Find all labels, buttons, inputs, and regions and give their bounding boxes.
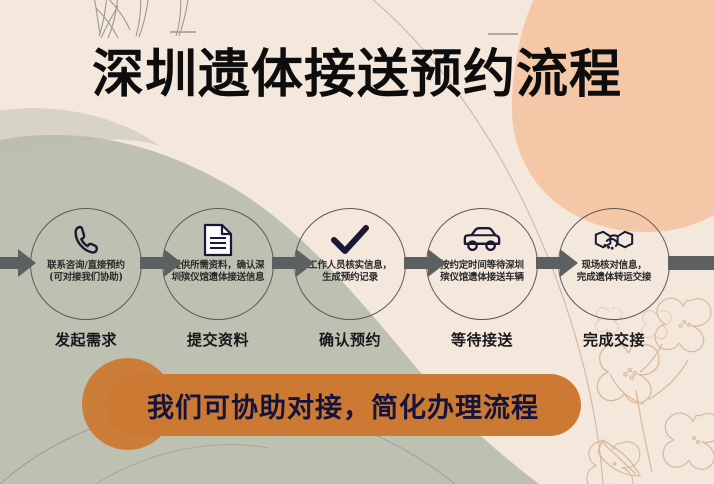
- flow-step-5: 现场核对信息， 完成遗体转运交接 完成交接: [554, 208, 674, 350]
- page-title: 深圳遗体接送预约流程: [0, 48, 714, 103]
- sage-curve-line-2: [96, 445, 268, 484]
- peach-blob-shape: [512, 0, 714, 232]
- cta-banner: 我们可协助对接，简化办理流程: [105, 374, 581, 436]
- cta-banner-text: 我们可协助对接，简化办理流程: [147, 386, 539, 425]
- flow-step-1-label: 发起需求: [26, 329, 146, 350]
- checkmark-icon: [330, 222, 370, 258]
- handshake-icon: [594, 222, 634, 258]
- flow-step-1-circle: 联系咨询/直接预约 (可对接我们协助): [30, 208, 142, 320]
- flow-step-2-label: 提交资料: [158, 329, 278, 350]
- document-icon: [198, 222, 238, 258]
- flow-step-3-label: 确认预约: [290, 329, 410, 350]
- infographic-poster: 深圳遗体接送预约流程 联系咨询/直接预约 (可对接我们协助) 发: [0, 0, 714, 484]
- flow-arrow-lead: [0, 248, 36, 278]
- flow-step-1-desc-line2: (可对接我们协助): [32, 272, 140, 284]
- flow-arrow-trailing-bar: [668, 253, 714, 273]
- phone-icon: [66, 222, 106, 258]
- car-icon: [462, 222, 502, 258]
- flow-step-5-label: 完成交接: [554, 329, 674, 350]
- flow-step-2: 提供所需资料，确认深 圳殡仪馆遗体接送信息 提交资料: [158, 208, 278, 350]
- flow-step-4: 按约定时间等待深圳 殡仪馆遗体接送车辆 等待接送: [422, 208, 542, 350]
- flow-arrow-4-5: [536, 248, 578, 278]
- flow-step-1-desc-line1: 联系咨询/直接预约: [32, 260, 140, 272]
- flow-arrow-3-4: [404, 248, 446, 278]
- flow-arrow-2-3: [272, 248, 314, 278]
- process-flow: 联系咨询/直接预约 (可对接我们协助) 发起需求: [0, 208, 714, 358]
- flow-step-1: 联系咨询/直接预约 (可对接我们协助) 发起需求: [26, 208, 146, 350]
- flow-step-1-description: 联系咨询/直接预约 (可对接我们协助): [32, 260, 140, 284]
- flow-step-3: 工作人员核实信息， 生成预约记录 确认预约: [290, 208, 410, 350]
- flow-arrow-1-2: [140, 248, 182, 278]
- flow-step-4-label: 等待接送: [422, 329, 542, 350]
- leaf-lineart-group: [92, 0, 190, 38]
- sage-secondary-lobe: [0, 108, 160, 172]
